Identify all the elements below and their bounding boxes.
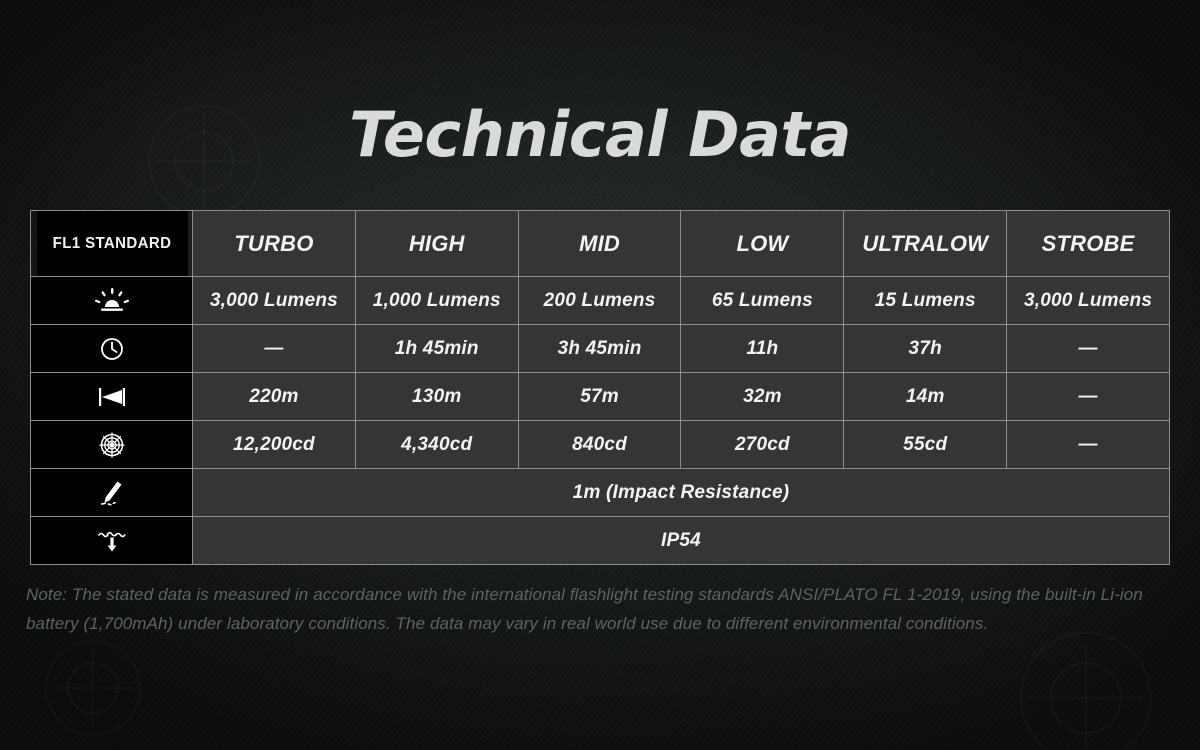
technical-data-page: Technical Data FL1 STANDARD TURBO HIGH M… (0, 0, 1200, 750)
cell-lumens-low: 65 Lumens (681, 277, 844, 325)
cell-distance-turbo: 220m (193, 373, 356, 421)
header-mode-low: LOW (681, 211, 844, 277)
table-row: — 1h 45min 3h 45min 11h 37h — (31, 325, 1170, 373)
technical-data-table: FL1 STANDARD TURBO HIGH MID LOW ULTRALOW… (30, 210, 1170, 565)
cell-runtime-low: 11h (681, 325, 844, 373)
peak-beam-intensity-icon (31, 421, 193, 469)
cell-distance-high: 130m (355, 373, 518, 421)
cell-runtime-turbo: — (193, 325, 356, 373)
beam-distance-icon (31, 373, 193, 421)
table-row: 12,200cd 4,340cd 840cd 270cd 55cd — (31, 421, 1170, 469)
header-fl1-standard: FL1 STANDARD (35, 211, 187, 277)
table-row: 1m (Impact Resistance) (31, 469, 1170, 517)
cell-lumens-high: 1,000 Lumens (355, 277, 518, 325)
cell-runtime-mid: 3h 45min (518, 325, 681, 373)
header-mode-ultralow: ULTRALOW (844, 211, 1007, 277)
header-mode-strobe: STROBE (1007, 211, 1170, 277)
cell-candela-strobe: — (1007, 421, 1170, 469)
cell-distance-strobe: — (1007, 373, 1170, 421)
cell-candela-ultralow: 55cd (844, 421, 1007, 469)
footnote-note: Note: The stated data is measured in acc… (26, 580, 1176, 638)
cell-candela-mid: 840cd (518, 421, 681, 469)
cell-impact-resistance: 1m (Impact Resistance) (193, 469, 1170, 517)
light-burst-icon (31, 277, 193, 325)
cell-candela-low: 270cd (681, 421, 844, 469)
header-mode-high: HIGH (355, 211, 518, 277)
cell-distance-low: 32m (681, 373, 844, 421)
cell-candela-high: 4,340cd (355, 421, 518, 469)
cell-runtime-ultralow: 37h (844, 325, 1007, 373)
cell-distance-mid: 57m (518, 373, 681, 421)
water-resistance-icon (31, 517, 193, 565)
cell-lumens-strobe: 3,000 Lumens (1007, 277, 1170, 325)
cell-candela-turbo: 12,200cd (193, 421, 356, 469)
table-header-row: FL1 STANDARD TURBO HIGH MID LOW ULTRALOW… (31, 211, 1170, 277)
table-row: 3,000 Lumens 1,000 Lumens 200 Lumens 65 … (31, 277, 1170, 325)
header-mode-turbo: TURBO (193, 211, 356, 277)
cell-lumens-turbo: 3,000 Lumens (193, 277, 356, 325)
cell-lumens-mid: 200 Lumens (518, 277, 681, 325)
cell-lumens-ultralow: 15 Lumens (844, 277, 1007, 325)
cell-runtime-high: 1h 45min (355, 325, 518, 373)
impact-resistance-icon (31, 469, 193, 517)
header-mode-mid: MID (518, 211, 681, 277)
cell-distance-ultralow: 14m (844, 373, 1007, 421)
table-row: IP54 (31, 517, 1170, 565)
table-row: 220m 130m 57m 32m 14m — (31, 373, 1170, 421)
clock-icon (31, 325, 193, 373)
page-title: Technical Data (0, 98, 1200, 171)
cell-water-resistance: IP54 (193, 517, 1170, 565)
cell-runtime-strobe: — (1007, 325, 1170, 373)
